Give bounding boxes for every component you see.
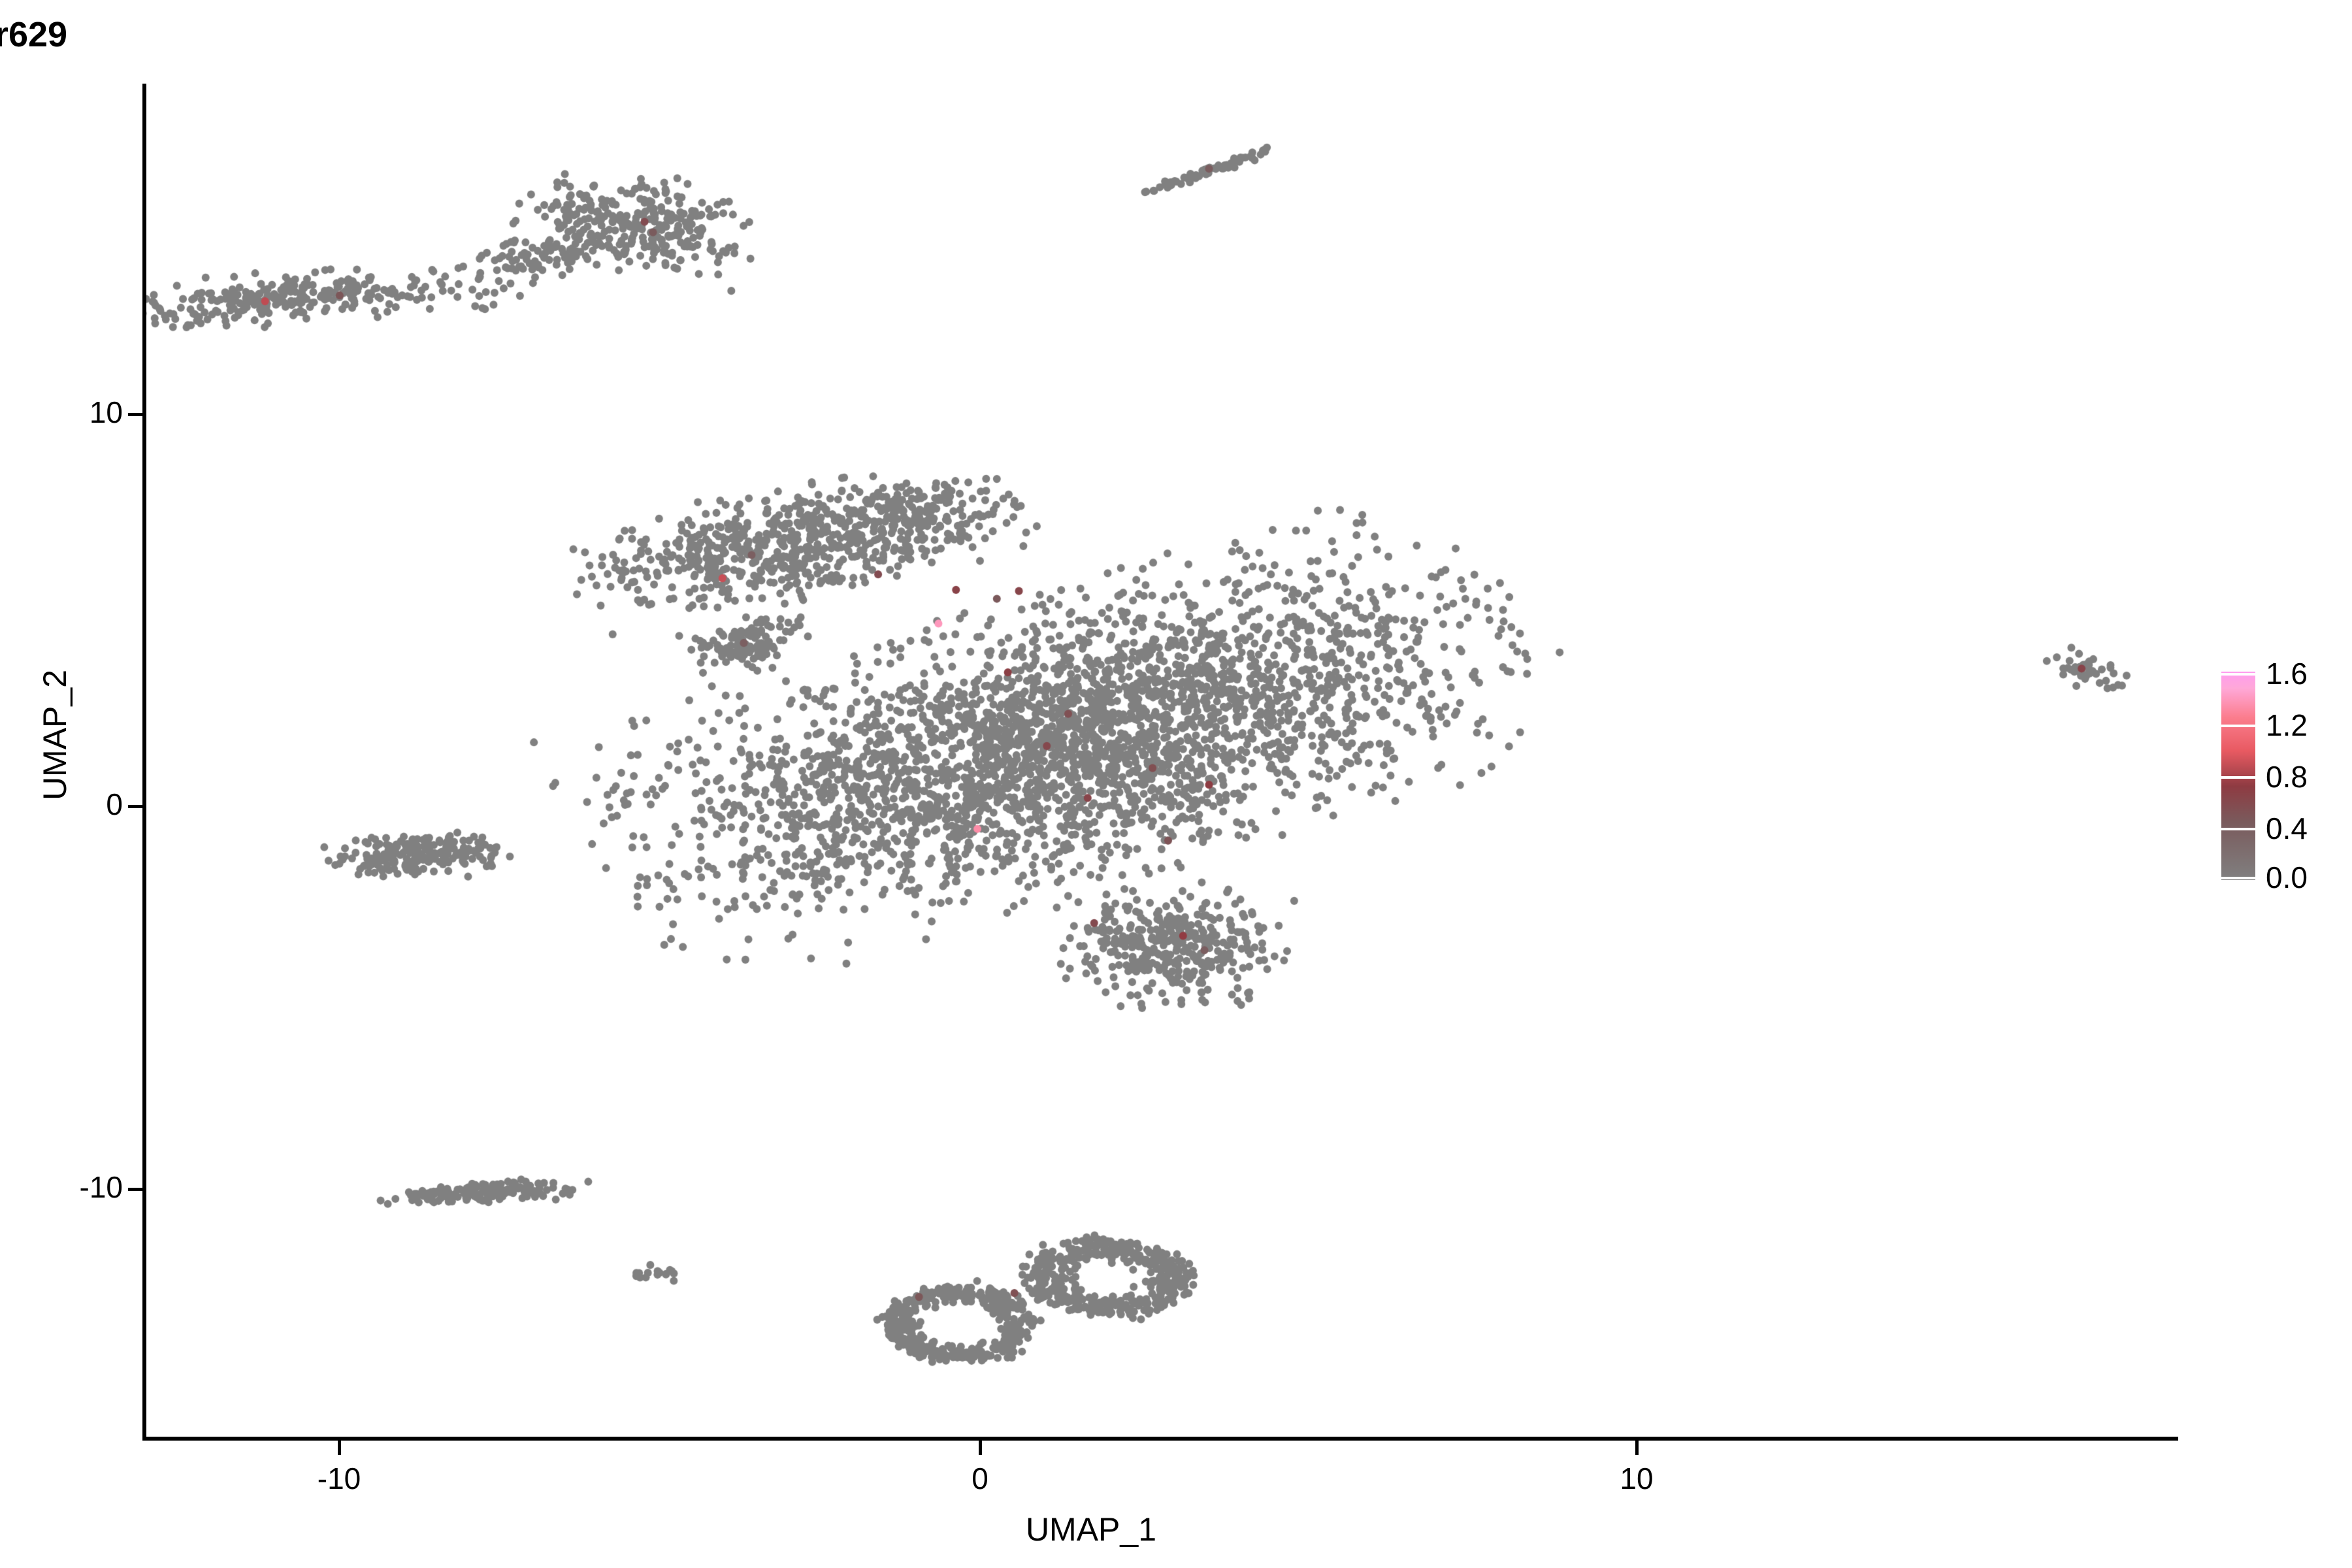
colorbar-tick-0_0 [2221, 877, 2255, 879]
x-tick-mark--10 [338, 1441, 341, 1455]
colorbar-label-0_0: 0.0 [2266, 860, 2308, 895]
x-tick-label-10: 10 [1539, 1461, 1735, 1496]
x-tick-label--10: -10 [241, 1461, 437, 1496]
y-tick-mark--10 [128, 1188, 142, 1191]
colorbar-tick-1_6 [2221, 673, 2255, 676]
colorbar-label-1_2: 1.2 [2266, 708, 2308, 743]
y-tick-mark-0 [128, 805, 142, 808]
page-title: Olfr629 [0, 14, 2352, 55]
colorbar-legend: 1.6 1.2 0.8 0.4 0.0 [2221, 672, 2352, 887]
x-axis-title: UMAP_1 [0, 1511, 2182, 1548]
x-tick-mark-10 [1635, 1441, 1639, 1455]
plot-panel [145, 84, 2177, 1439]
plot-title-text: Olfr629 [0, 15, 67, 54]
umap-feature-plot: Olfr629 10 0 -10 -10 0 10 UMAP_1 UMAP_2 … [0, 0, 2352, 1568]
colorbar-label-1_6: 1.6 [2266, 656, 2308, 691]
x-axis-line [142, 1437, 2178, 1441]
y-tick-mark-10 [128, 413, 142, 416]
scatter-points-canvas [145, 84, 2177, 1439]
y-tick-label-10: 10 [0, 395, 123, 430]
colorbar-tick-0_4 [2221, 828, 2255, 830]
y-axis-line [142, 84, 146, 1441]
x-tick-label-0: 0 [882, 1461, 1078, 1496]
x-tick-mark-0 [979, 1441, 982, 1455]
y-axis-title: UMAP_2 [36, 506, 74, 964]
colorbar-label-0_4: 0.4 [2266, 811, 2308, 846]
y-tick-label--10: -10 [0, 1169, 123, 1205]
colorbar-label-0_8: 0.8 [2266, 759, 2308, 794]
colorbar-tick-0_8 [2221, 776, 2255, 779]
colorbar-tick-1_2 [2221, 725, 2255, 727]
